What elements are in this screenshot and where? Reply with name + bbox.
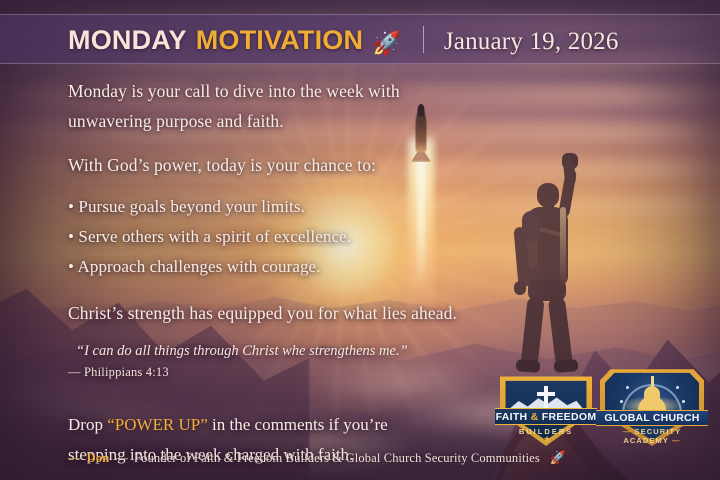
logo-word-freedom: FREEDOM xyxy=(539,411,597,423)
star-icon: ★ xyxy=(543,435,551,444)
scripture-quote: “I can do all things through Christ whe … xyxy=(68,340,488,362)
logo-word-faith: FAITH xyxy=(496,411,531,423)
list-item: • Approach challenges with courage. xyxy=(68,252,488,282)
logo-name-row: GLOBAL CHURCH xyxy=(604,412,699,424)
cross-icon xyxy=(544,386,548,408)
star-dot-icon xyxy=(682,400,685,403)
header-title-monday: MONDAY xyxy=(68,25,187,56)
header-band: MONDAY MOTIVATION 🚀 January 19, 2026 xyxy=(0,14,720,64)
spacer xyxy=(68,138,488,150)
header-title-motivation: MOTIVATION xyxy=(196,25,363,56)
spacer xyxy=(68,282,488,298)
footer-dash-right: — xyxy=(115,451,128,466)
faith-and-freedom-builders-logo[interactable]: FAITH & FREEDOM BUILDERS ★ xyxy=(496,372,596,446)
rocket-emoji-icon: 🚀 xyxy=(550,450,566,466)
dash-accent-right: — xyxy=(672,436,681,445)
logo-group: FAITH & FREEDOM BUILDERS ★ GLOBAL CHURCH… xyxy=(496,366,704,446)
spacer xyxy=(68,328,488,340)
rocket-emoji-icon: 🚀 xyxy=(372,32,401,55)
global-church-security-academy-logo[interactable]: GLOBAL CHURCH — SECURITY ACADEMY — xyxy=(600,366,704,446)
dash-accent-left: — xyxy=(623,427,632,436)
intro-line-2: unwavering purpose and faith. xyxy=(68,106,488,136)
intro-paragraph: Monday is your call to dive into the wee… xyxy=(68,76,488,136)
body-copy: Monday is your call to dive into the wee… xyxy=(68,76,488,470)
header-date: January 19, 2026 xyxy=(444,28,619,56)
logo-ribbon: FAITH & FREEDOM xyxy=(495,408,597,425)
cta-line-1: Drop “POWER UP” in the comments if you’r… xyxy=(68,410,488,440)
list-item: • Serve others with a spirit of excellen… xyxy=(68,222,488,252)
logo-name-row: FAITH & FREEDOM xyxy=(496,411,597,423)
scripture-reference: — Philippians 4:13 xyxy=(68,362,488,382)
header-divider xyxy=(423,26,424,53)
logo-subtitle: — SECURITY ACADEMY — xyxy=(600,427,704,445)
header-content: MONDAY MOTIVATION 🚀 January 19, 2026 xyxy=(0,22,619,56)
cross-icon-crossbar xyxy=(537,392,555,396)
bullet-list: • Pursue goals beyond your limits. • Ser… xyxy=(68,192,488,282)
star-dot-icon xyxy=(676,386,679,389)
ampersand-icon: & xyxy=(531,411,539,423)
closing-line: Christ’s strength has equipped you for w… xyxy=(68,298,488,328)
cta-suffix: in the comments if you’re xyxy=(208,415,388,434)
intro-line-1: Monday is your call to dive into the wee… xyxy=(68,76,488,106)
list-item: • Pursue goals beyond your limits. xyxy=(68,192,488,222)
footer-signature: — Don — Founder of Faith & Freedom Build… xyxy=(68,450,566,466)
cta-prefix: Drop xyxy=(68,415,107,434)
star-dot-icon xyxy=(626,386,629,389)
spacer xyxy=(68,180,488,192)
star-dot-icon xyxy=(620,400,623,403)
motivation-poster: MONDAY MOTIVATION 🚀 January 19, 2026 Mon… xyxy=(0,0,720,480)
footer-author-name: Don xyxy=(87,451,110,466)
cta-highlight: “POWER UP” xyxy=(107,415,208,434)
footer-role: Founder of Faith & Freedom Builders & Gl… xyxy=(134,451,540,466)
lead-in-line: With God’s power, today is your chance t… xyxy=(68,150,488,180)
logo-ribbon: GLOBAL CHURCH xyxy=(596,410,708,426)
footer-dash-left: — xyxy=(68,451,81,466)
spacer xyxy=(68,382,488,410)
